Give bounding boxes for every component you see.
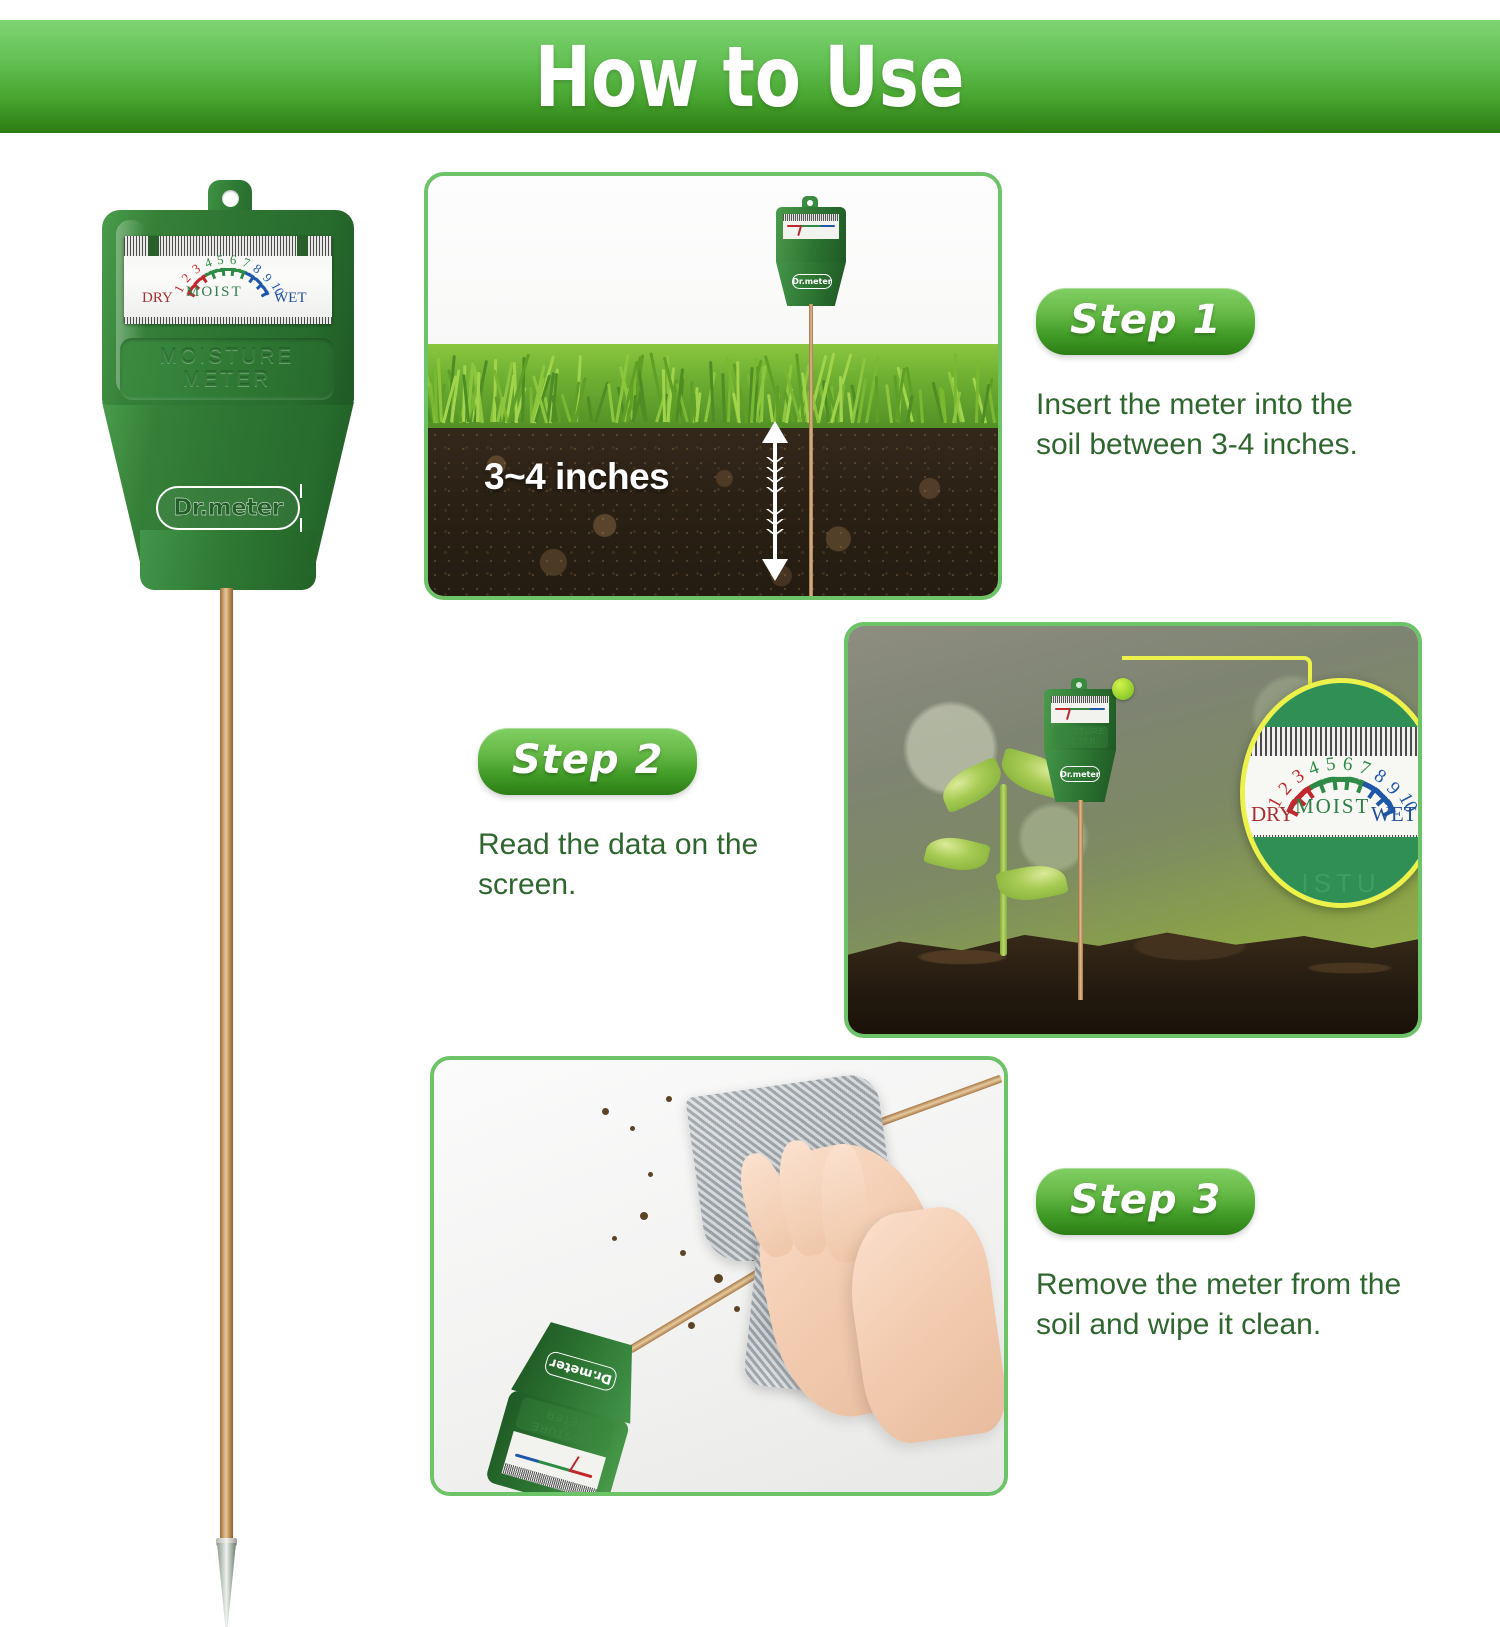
step1-text-block: Step 1 Insert the meter into the soil be… [1036,288,1406,465]
mini-probe-rod [1078,800,1083,1000]
arrow-shaft [773,441,777,561]
arrow-head-up-icon [762,421,788,443]
grass-layer [428,344,998,436]
depth-annotation-text: 3~4 inches [484,456,669,498]
dial-number: 6 [1342,754,1354,777]
grass-blade [662,369,666,422]
step2-pill: Step 2 [478,728,697,795]
logo-tick-bottom-right [300,518,303,532]
step2-description: Read the data on the screen. [478,825,818,905]
grass-blade [607,384,615,423]
grass-blade [767,395,774,423]
mini-brand-logo: Dr.meter [1060,766,1100,782]
product-showcase: 12345678910DRYMOISTWET MOISTURE METER Dr… [78,180,378,1500]
mini-needle [569,1456,580,1471]
grass-blade [760,366,765,422]
grass-blade [561,394,572,423]
mini-brand-logo: Dr.meter [792,274,832,289]
step1-pill-label: Step 1 [1070,297,1221,343]
mini-emboss-plate: MOISTUREMETER [1052,726,1108,748]
step3-image-panel: MOISTUREMETER Dr.meter [430,1056,1008,1496]
embossed-name-plate: MOISTURE METER [120,338,334,400]
mini-screen-hatch [1051,696,1109,703]
grass-blade [875,376,879,423]
mini-hang-hole [807,200,813,206]
step3-description: Remove the meter from the soil and wipe … [1036,1265,1406,1345]
dial-number: 7 [1357,757,1374,781]
grass-blade [709,361,715,423]
dirt-speck [714,1274,723,1283]
mini-screen [1051,696,1109,723]
grass-blade [919,389,924,423]
step2-text-block: Step 2 Read the data on the screen. [478,728,818,905]
grass-blades [428,344,998,436]
dial-number: 3 [1289,766,1309,790]
grass-blade [586,396,592,422]
mini-scale-arc [787,225,835,227]
step3-pill-label: Step 3 [1070,1177,1221,1223]
dial-clip-left [148,236,159,256]
dirt-speck [640,1212,648,1220]
step1-pill: Step 1 [1036,288,1255,355]
emboss-line-2: METER [183,369,272,392]
dial-hatch-bottom [124,317,332,324]
step1-image-panel: Dr.meter 3~4 inches [424,172,1002,600]
soil-texture [428,428,998,596]
dial-label: MOIST [1295,794,1370,819]
mini-screen-hatch [783,214,839,221]
dial-label: WET [1371,802,1416,827]
step3-pill: Step 3 [1036,1168,1255,1235]
device-lower-base [140,530,316,590]
step2-image-panel: MOISTUREMETER Dr.meter 12345678910DRYMOI… [844,622,1422,1038]
header-banner: How to Use [0,20,1500,133]
dial-label: MOIST [186,284,243,301]
mini-scale-arc [1055,708,1105,710]
dial-face: 12345678910DRYMOISTWET [124,254,332,318]
step2-pill-label: Step 2 [512,737,663,783]
dial-label: DRY [1251,802,1294,827]
dial-clip-right [297,236,308,256]
callout-connector-line [1122,656,1312,684]
dial-number: 2 [1274,778,1297,800]
dial-label: DRY [142,290,173,307]
page-title: How to Use [535,28,965,126]
magnifier-hatch-top [1245,727,1422,756]
grass-blade [994,363,1002,423]
magnifier-ghost-text: ISTU [1245,868,1422,899]
dial-number: 5 [216,252,224,269]
brand-logo-text: Dr.meter [173,495,282,521]
dirt-speck [612,1236,617,1241]
dirt-speck [734,1306,740,1312]
grass-blade [975,360,980,423]
dial-label: WET [274,290,306,307]
mini-needle [797,226,801,236]
mini-probe-rod [809,304,813,600]
dirt-speck [666,1096,672,1102]
dial-magnifier: 12345678910DRYMOISTWET ISTU [1240,678,1422,908]
step1-description: Insert the meter into the soil between 3… [1036,385,1406,465]
logo-tick-top-right [300,484,303,498]
dial-window: 12345678910DRYMOISTWET [124,236,332,324]
grass-blade [721,373,726,423]
dirt-speck [688,1322,695,1329]
emboss-line-1: MOISTURE [160,346,295,369]
dirt-speck [602,1108,609,1115]
brand-logo-badge: Dr.meter [156,486,300,530]
dirt-speck [648,1172,653,1177]
arrow-head-down-icon [762,559,788,581]
mini-hang-hole [1076,682,1082,688]
magnifier-dial-face: 12345678910DRYMOISTWET [1245,756,1422,837]
mini-needle [1066,709,1070,720]
dial-number: 6 [229,252,237,269]
dirt-speck [630,1126,635,1131]
dial-number: 5 [1325,754,1337,777]
mini-screen [783,214,839,239]
device-hang-hole [222,190,239,207]
grass-blade [885,384,893,423]
depth-arrow [758,421,792,581]
probe-rod [220,588,233,1548]
dial-number: 4 [1306,757,1323,781]
dirt-speck [680,1250,686,1256]
step3-text-block: Step 3 Remove the meter from the soil an… [1036,1168,1406,1345]
probe-tip [217,1543,236,1627]
